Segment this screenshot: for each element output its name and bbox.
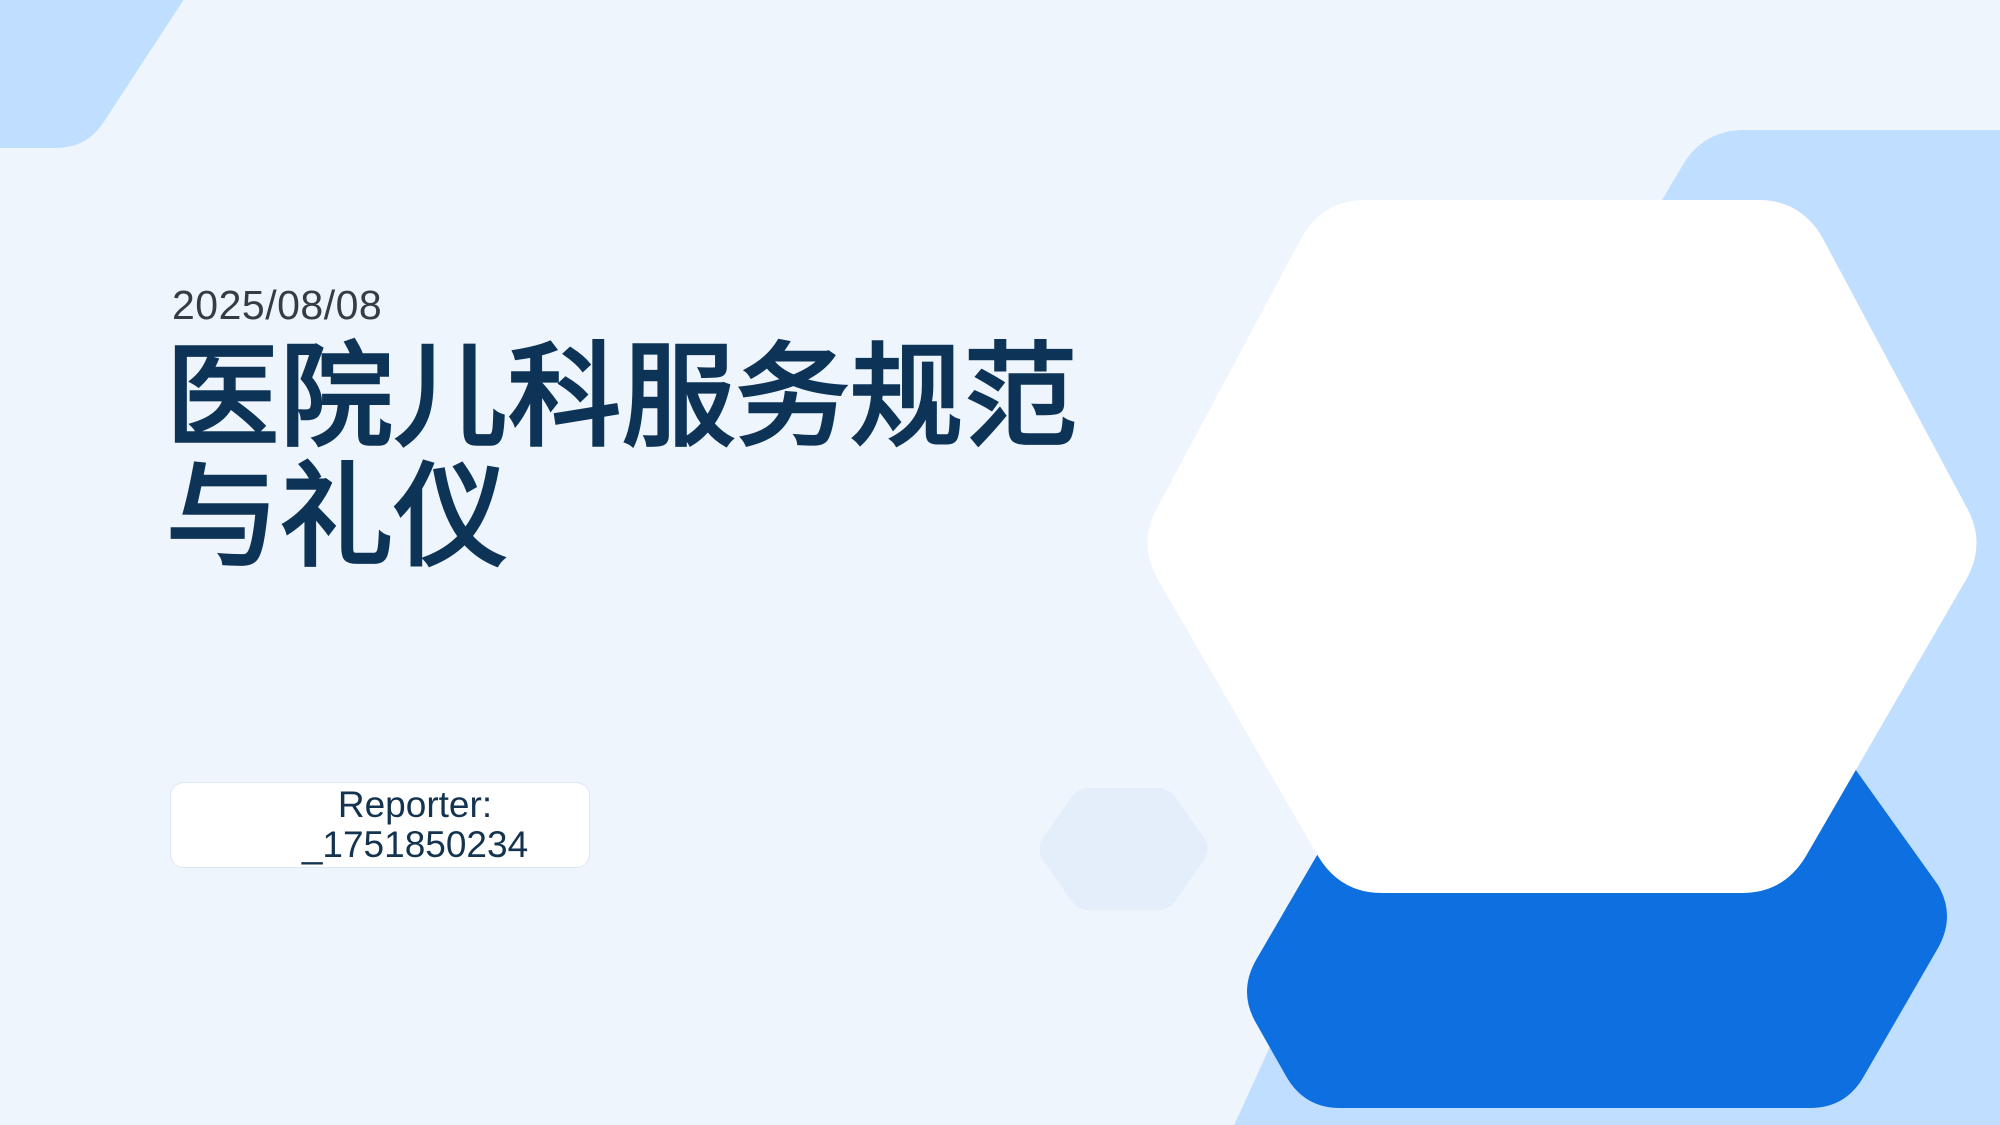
title-line-1: 医院儿科服务规范 — [166, 338, 1226, 458]
reporter-label: Reporter: _1751850234 — [171, 785, 589, 865]
slide-content: 2025/08/08 医院儿科服务规范 与礼仪 Reporter: _17518… — [0, 0, 2000, 1125]
slide-root: 2025/08/08 医院儿科服务规范 与礼仪 Reporter: _17518… — [0, 0, 2000, 1125]
slide-title: 医院儿科服务规范 与礼仪 — [166, 338, 1226, 578]
title-line-2: 与礼仪 — [166, 458, 1226, 578]
slide-date: 2025/08/08 — [172, 282, 382, 329]
reporter-card: Reporter: _1751850234 — [170, 782, 590, 868]
